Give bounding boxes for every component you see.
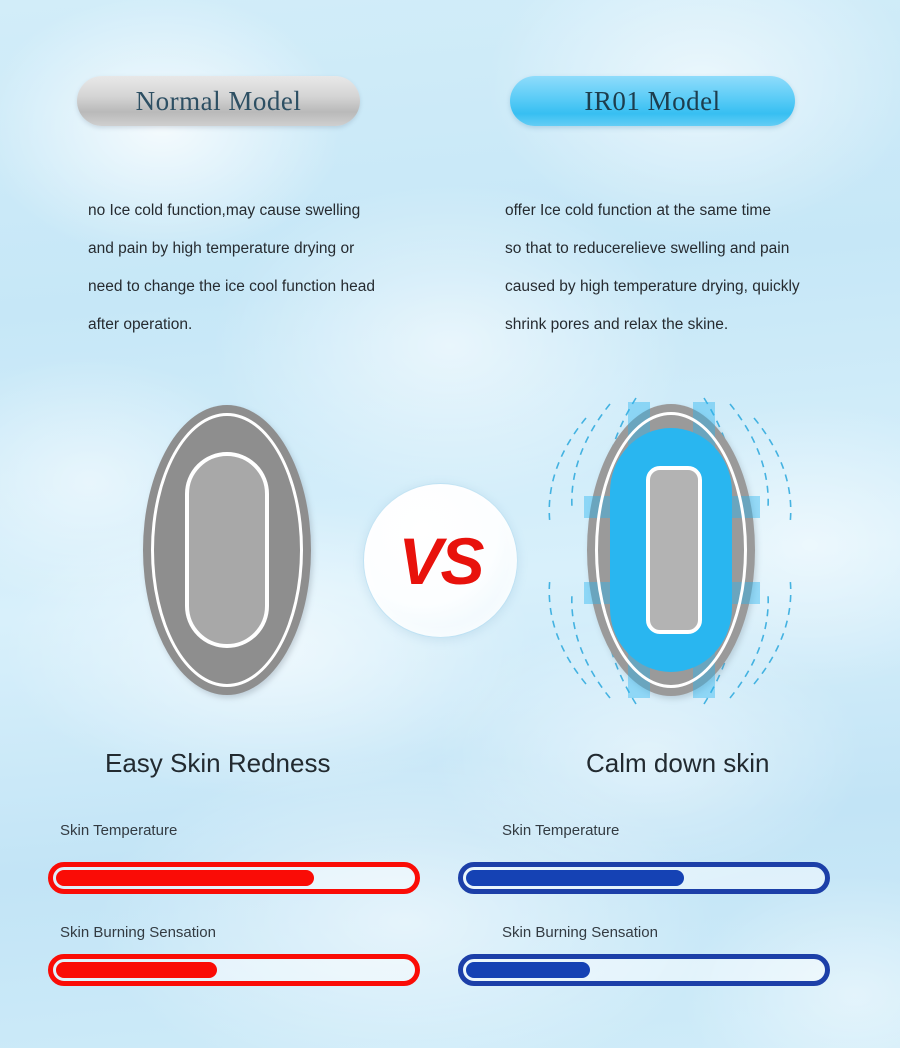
- meter-label-skin-temperature-ir01: Skin Temperature: [502, 822, 619, 839]
- ir01-model-device-illustration: [540, 396, 800, 706]
- ir01-model-pill-label: IR01 Model: [584, 86, 720, 117]
- meter-skin-temperature-normal: [48, 862, 420, 894]
- description-line: and pain by high temperature drying or: [88, 230, 458, 268]
- versus-label: VS: [398, 523, 482, 599]
- ir01-model-pill: IR01 Model: [510, 76, 795, 126]
- normal-model-description: no Ice cold function,may cause swelling …: [88, 192, 458, 344]
- normal-model-caption: Easy Skin Redness: [105, 748, 330, 779]
- description-line: shrink pores and relax the skine.: [505, 306, 880, 344]
- versus-badge: VS: [363, 483, 518, 638]
- normal-model-pill: Normal Model: [77, 76, 360, 126]
- meter-skin-burning-normal: [48, 954, 420, 986]
- meter-fill: [56, 870, 314, 886]
- meter-fill: [466, 870, 684, 886]
- description-line: offer Ice cold function at the same time: [505, 192, 880, 230]
- description-line: need to change the ice cool function hea…: [88, 268, 458, 306]
- normal-model-pill-label: Normal Model: [136, 86, 302, 117]
- device-inner-panel: [646, 466, 702, 634]
- ir01-model-description: offer Ice cold function at the same time…: [505, 192, 880, 344]
- device-inner-panel: [185, 452, 269, 648]
- description-line: so that to reducerelieve swelling and pa…: [505, 230, 880, 268]
- description-line: no Ice cold function,may cause swelling: [88, 192, 458, 230]
- ir01-model-caption: Calm down skin: [586, 748, 770, 779]
- meter-fill: [56, 962, 217, 978]
- meter-label-skin-burning-normal: Skin Burning Sensation: [60, 924, 216, 941]
- normal-model-device-illustration: [138, 400, 318, 700]
- meter-skin-burning-ir01: [458, 954, 830, 986]
- meter-fill: [466, 962, 590, 978]
- meter-label-skin-temperature-normal: Skin Temperature: [60, 822, 177, 839]
- meter-label-skin-burning-ir01: Skin Burning Sensation: [502, 924, 658, 941]
- description-line: after operation.: [88, 306, 458, 344]
- meter-skin-temperature-ir01: [458, 862, 830, 894]
- description-line: caused by high temperature drying, quick…: [505, 268, 880, 306]
